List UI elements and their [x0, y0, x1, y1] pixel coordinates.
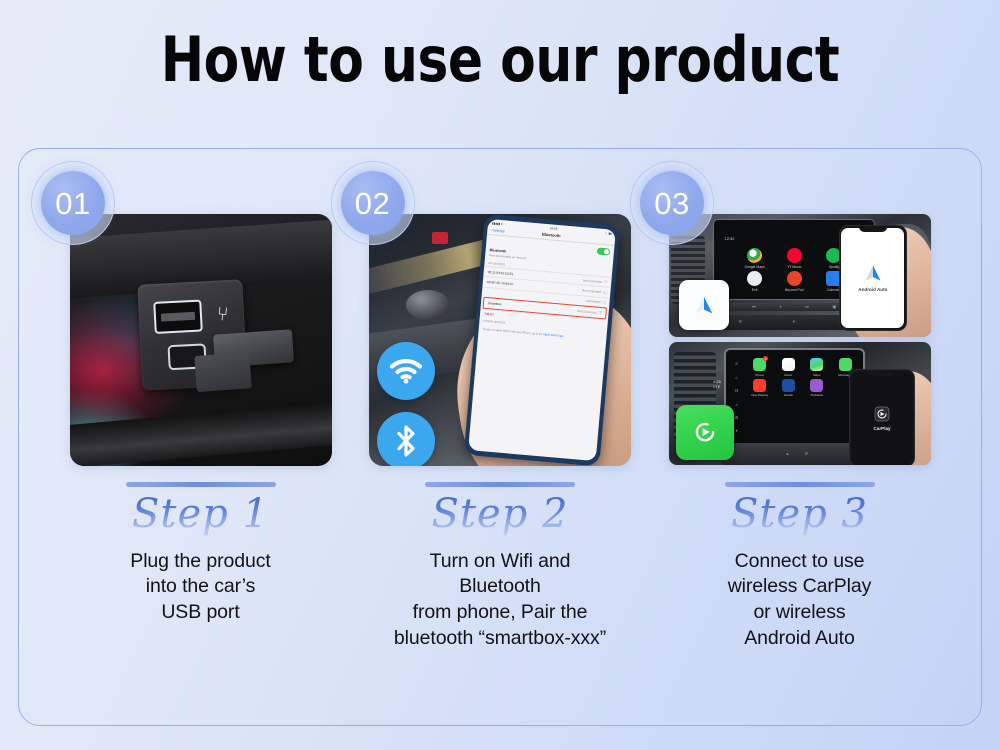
step-desc-line: USB port: [130, 600, 270, 626]
app-label: Now Playing: [751, 393, 768, 397]
device-name: A0:5F:4C:76:64:27: [486, 280, 513, 286]
app-label: Spotify: [829, 265, 839, 269]
carplay-clock-block: 4:25 LTE: [713, 379, 721, 389]
sidebar-icon[interactable]: ☉: [735, 361, 739, 366]
step-photo-2: ▮▮▮▮▮ ▾ 16:58 ↑↓ ▮▮ ‹ Settings Bluetooth…: [369, 214, 631, 466]
sidebar-icon[interactable]: ⏸: [736, 428, 738, 433]
head-unit-display: ☉ ⌂ ☷ ♫ ⚙ ⏸ 1: [724, 348, 865, 446]
hand-holding-phone: CarPlay: [849, 369, 915, 465]
step-divider-1: [126, 482, 276, 487]
device-state-text: Not Connected: [577, 309, 597, 315]
app-label: Beyond Pod: [785, 288, 803, 292]
app-label: Music: [784, 373, 792, 377]
device-state: Not Connected ⓘ: [582, 288, 607, 295]
sidebar-icon[interactable]: ⚙: [735, 415, 739, 420]
step-desc-line: Turn on Wifi and: [394, 549, 606, 575]
car-console-scene: ⑂: [70, 214, 332, 466]
info-icon[interactable]: ⓘ: [603, 290, 607, 295]
step-desc-line: bluetooth “smartbox-xxx”: [394, 626, 606, 652]
app-label: Maps: [813, 373, 820, 377]
android-auto-photo: 12:32 ▾ ▴ ▮ Google Maps YT Music: [669, 214, 931, 337]
step-badge-number-3: 03: [654, 188, 689, 219]
step-description-3: Connect to use wireless CarPlay or wirel…: [728, 549, 872, 653]
step-desc-line: Plug the product: [130, 549, 270, 575]
back-button[interactable]: ‹ Settings: [490, 228, 505, 233]
device-name: Smartbox: [488, 301, 502, 306]
honda-icon: [782, 379, 795, 392]
step-photo-1: ⑂: [70, 214, 332, 466]
step-badge-2: 02: [336, 166, 410, 240]
device-state-text: Connected: [586, 299, 600, 304]
podcasts-icon: [810, 379, 823, 392]
device-name: 00:11:53:61:52:E1: [487, 270, 513, 276]
nav-title: Bluetooth: [542, 232, 561, 239]
step-badge-number-1: 01: [55, 188, 90, 219]
footer-text: To pair an Apple Watch with your iPhone,…: [482, 328, 542, 336]
carplay-logo-icon: [874, 406, 890, 422]
wifi-icon: [377, 342, 435, 400]
phone-icon: 1: [753, 358, 766, 371]
app-tile[interactable]: Honda: [776, 379, 800, 398]
music-icon: [782, 358, 795, 371]
step-desc-line: wireless CarPlay: [728, 574, 872, 600]
beyond-pod-icon: [787, 271, 802, 286]
maps-icon: [810, 358, 823, 371]
step-desc-line: Connect to use: [728, 549, 872, 575]
step-divider-2: [425, 482, 575, 487]
step-desc-line: into the car’s: [130, 574, 270, 600]
info-icon[interactable]: ⓘ: [604, 279, 608, 284]
device-name: TJ5-07: [484, 312, 494, 317]
phone-notch: [869, 370, 896, 376]
app-tile[interactable]: Now Playing: [748, 379, 772, 398]
bluetooth-icon: [377, 412, 435, 466]
head-unit-clock: 12:32: [725, 236, 735, 241]
android-auto-logo-icon: [863, 263, 883, 283]
device-state: Not Connected ⓘ: [577, 308, 602, 315]
info-icon[interactable]: ⓘ: [598, 310, 602, 315]
app-tile[interactable]: Beyond Pod: [777, 271, 812, 292]
step-badge-disc-3: 03: [640, 171, 704, 235]
android-auto-scene: 12:32 ▾ ▴ ▮ Google Maps YT Music: [669, 214, 931, 337]
now-playing-icon: [753, 379, 766, 392]
hazard-icon[interactable]: ▲: [785, 451, 789, 456]
device-state-text: Not Connected: [583, 278, 603, 284]
dashboard-indicator: [432, 232, 448, 245]
app-label: Google Maps: [745, 265, 765, 269]
usb-symbol-icon: ⑂: [210, 296, 236, 334]
status-right: ↑↓ ▮▮: [604, 231, 611, 236]
car-interior-scene: ▮▮▮▮▮ ▾ 16:58 ↑↓ ▮▮ ‹ Settings Bluetooth…: [369, 214, 631, 466]
step-script-label-1: Step 1: [132, 489, 269, 539]
phone-app-label: CarPlay: [873, 426, 890, 431]
hu-btn[interactable]: ⏸: [779, 304, 781, 309]
carplay-signal: LTE: [713, 384, 721, 389]
phone-device: ▮▮▮▮▮ ▾ 16:58 ↑↓ ▮▮ ‹ Settings Bluetooth…: [464, 214, 621, 466]
sidebar-icon[interactable]: ☷: [735, 388, 739, 393]
console-rail: [70, 399, 332, 466]
step-desc-line: Bluetooth: [394, 574, 606, 600]
info-icon[interactable]: ⓘ: [602, 300, 606, 305]
step-badge-1: 01: [36, 166, 110, 240]
phone-device: Android Auto: [839, 225, 907, 331]
hu-btn[interactable]: ⏮: [752, 304, 756, 309]
carplay-logo-icon: [676, 405, 734, 460]
step-divider-3: [725, 482, 875, 487]
phone-screen-carplay: CarPlay: [852, 372, 913, 465]
step-badge-disc-2: 02: [341, 171, 405, 235]
yt-music-icon: [787, 248, 802, 263]
climate-btn[interactable]: ❄: [738, 319, 742, 325]
phone-device: CarPlay: [849, 369, 915, 465]
google-maps-icon: [747, 248, 762, 263]
step-desc-line: from phone, Pair the: [394, 600, 606, 626]
step-script-label-3: Step 3: [731, 489, 868, 539]
usb-port-a: [153, 300, 203, 334]
phone-notch: [859, 226, 887, 232]
climate-btn[interactable]: ▾: [793, 319, 795, 325]
home-icon[interactable]: ⌂: [735, 375, 737, 380]
app-tile[interactable]: Podcasts: [805, 379, 829, 398]
carplay-app-grid: 1 Phone Music Maps: [748, 358, 858, 395]
app-label: YT Music: [787, 265, 801, 269]
hu-btn[interactable]: ⏭: [805, 304, 809, 309]
carplay-photo: ☉ ⌂ ☷ ♫ ⚙ ⏸ 1: [669, 342, 931, 465]
step-description-1: Plug the product into the car’s USB port: [130, 549, 270, 627]
app-label: Phone: [755, 373, 764, 377]
device-state: Connected ⓘ: [586, 299, 606, 306]
step-desc-line: or wireless: [728, 600, 872, 626]
device-state: Not Connected ⓘ: [583, 278, 608, 285]
sidebar-icon[interactable]: ♫: [735, 402, 738, 407]
android-auto-logo-icon: [679, 280, 729, 329]
app-tile[interactable]: Google Maps: [737, 248, 772, 269]
exit-icon: [747, 271, 762, 286]
app-label: Honda: [784, 393, 793, 397]
step-card-1: 01 ⑂ Step 1 Plug the product into the ca…: [58, 148, 343, 726]
hand-holding-phone: Android Auto: [839, 225, 907, 331]
device-state-text: Not Connected: [582, 288, 602, 294]
steps-container: 01 ⑂ Step 1 Plug the product into the ca…: [18, 148, 982, 726]
app-tile[interactable]: Exit: [737, 271, 772, 292]
app-tile[interactable]: Music: [776, 358, 800, 377]
app-tile[interactable]: YT Music: [777, 248, 812, 269]
step-badge-disc-1: 01: [41, 171, 105, 235]
notification-badge: 1: [763, 356, 768, 361]
step-badge-number-2: 02: [355, 188, 390, 219]
hu-btn[interactable]: ▣: [833, 304, 837, 309]
apple-watch-app-link[interactable]: Apple Watch app: [543, 333, 564, 338]
dash-btn[interactable]: ☰: [805, 451, 809, 456]
step-photo-3: 12:32 ▾ ▴ ▮ Google Maps YT Music: [669, 214, 931, 466]
phone-screen-android-auto: Android Auto: [841, 228, 904, 329]
phone-screen-bluetooth-settings: ▮▮▮▮▮ ▾ 16:58 ↑↓ ▮▮ ‹ Settings Bluetooth…: [468, 219, 616, 461]
step-card-3: 03 12:32 ▾ ▴ ▮: [657, 148, 942, 726]
step-description-2: Turn on Wifi and Bluetooth from phone, P…: [394, 549, 606, 653]
app-tile[interactable]: 1 Phone: [748, 358, 772, 377]
step-desc-line: Android Auto: [728, 626, 872, 652]
status-clock: 16:58: [549, 226, 557, 231]
usb-dongle: [213, 330, 294, 368]
step-script-label-2: Step 2: [432, 489, 569, 539]
carplay-scene: ☉ ⌂ ☷ ♫ ⚙ ⏸ 1: [669, 342, 931, 465]
app-label: Exit: [752, 288, 758, 292]
gear-knob: [406, 290, 451, 320]
page-title: How to use our product: [35, 0, 965, 94]
carplay-app-grid-wrap: 1 Phone Music Maps: [748, 350, 863, 444]
app-tile[interactable]: Maps: [805, 358, 829, 377]
app-label: Podcasts: [811, 393, 823, 397]
phone-app-label: Android Auto: [858, 287, 887, 292]
step-card-2: 02 ▮▮▮▮▮ ▾ 16:58 ↑↓ ▮▮: [358, 148, 643, 726]
step-badge-3: 03: [635, 166, 709, 240]
bluetooth-toggle[interactable]: [597, 248, 611, 256]
